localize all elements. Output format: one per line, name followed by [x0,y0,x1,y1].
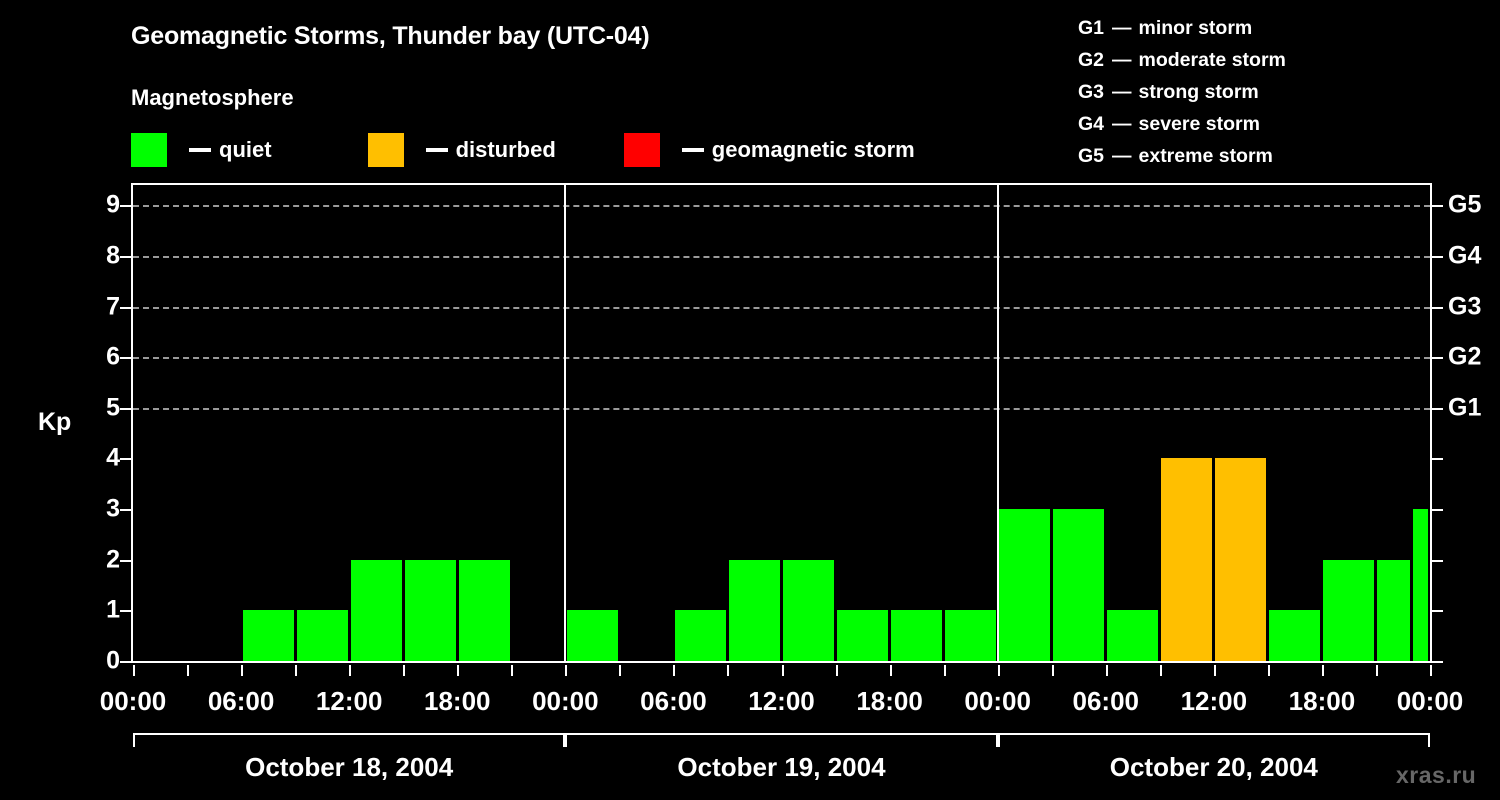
y-axis-labels: 0123456789 [60,183,120,663]
page-title: Geomagnetic Storms, Thunder bay (UTC-04) [131,22,649,51]
g-axis-label-G2: G2 [1448,345,1481,370]
x-tick-minor [187,665,189,676]
color-legend: quietdisturbedgeomagnetic storm [131,132,915,168]
legend-label: quiet [219,137,272,163]
y-tick-label-7: 7 [80,294,120,319]
y-tick-mark-right [1432,661,1443,663]
g-scale-dash-icon: — [1112,108,1132,140]
bar-18 [1107,610,1158,661]
day-separator [997,185,999,661]
y-tick-mark [120,610,131,612]
y-tick-mark-right [1432,256,1443,258]
y-tick-mark [120,256,131,258]
x-tick-major [133,665,135,676]
x-tick-minor [1052,665,1054,676]
x-tick-major [349,665,351,676]
g-scale-line-G3: G3—strong storm [1078,76,1478,108]
g-scale-text: minor storm [1139,12,1253,44]
legend-dash-icon [426,148,448,152]
legend-dash-icon [682,148,704,152]
gridline-kp-8 [133,256,1430,258]
x-tick-minor [295,665,297,676]
x-axis-ticks [131,665,1432,677]
bar-11 [729,560,780,661]
g-scale-line-G1: G1—minor storm [1078,12,1478,44]
day-bracket [998,733,1430,747]
x-tick-major [1214,665,1216,676]
g-scale-code: G3 [1078,76,1108,108]
g-scale-legend: G1—minor stormG2—moderate stormG3—strong… [1078,12,1478,172]
day-separator [564,185,566,661]
y-tick-label-0: 0 [80,649,120,674]
y-tick-label-3: 3 [80,497,120,522]
bar-21 [1269,610,1320,661]
g-axis-label-G4: G4 [1448,243,1481,268]
x-tick-major [457,665,459,676]
section-label: Magnetosphere [131,85,294,111]
bar-20 [1215,458,1266,661]
y-tick-mark [120,458,131,460]
legend-dash-icon [189,148,211,152]
g-scale-text: strong storm [1139,76,1259,108]
day-label: October 19, 2004 [565,752,997,783]
g-scale-dash-icon: — [1112,44,1132,76]
bar-22 [1323,560,1374,661]
y-tick-mark [120,509,131,511]
plot-inner [133,185,1430,661]
legend-item-disturbed: disturbed [368,133,556,167]
bar-17 [1053,509,1104,661]
g-scale-line-G5: G5—extreme storm [1078,140,1478,172]
gridline-kp-5 [133,408,1430,410]
x-tick-minor [619,665,621,676]
y-tick-mark [120,661,131,663]
y-tick-mark [120,408,131,410]
g-scale-dash-icon: — [1112,140,1132,172]
g-axis-label-G5: G5 [1448,193,1481,218]
x-tick-major [1106,665,1108,676]
y-axis-ticks-left [120,183,131,663]
y-tick-mark-right [1432,357,1443,359]
x-tick-minor [1376,665,1378,676]
y-tick-mark [120,307,131,309]
g-scale-code: G5 [1078,140,1108,172]
y-tick-mark-right [1432,458,1443,460]
bar-16 [999,509,1050,661]
plot-area [131,183,1432,663]
bar-3 [297,610,348,661]
x-tick-major [1430,665,1432,676]
legend-item-geomagnetic-storm: geomagnetic storm [624,133,915,167]
bar-4 [351,560,402,661]
g-scale-axis-labels: G1G2G3G4G5 [1448,183,1500,663]
y-tick-label-6: 6 [80,345,120,370]
legend-label: disturbed [456,137,556,163]
bar-8 [567,610,618,661]
legend-item-quiet: quiet [131,133,272,167]
x-tick-minor [727,665,729,676]
x-tick-minor [1268,665,1270,676]
day-bracket [133,733,565,747]
g-scale-line-G4: G4—severe storm [1078,108,1478,140]
x-tick-minor [836,665,838,676]
day-labels: October 18, 2004October 19, 2004October … [131,752,1432,788]
x-tick-minor [511,665,513,676]
y-tick-mark-right [1432,509,1443,511]
g-scale-code: G4 [1078,108,1108,140]
gridline-kp-9 [133,205,1430,207]
bar-12 [783,560,834,661]
g-scale-text: severe storm [1139,108,1260,140]
y-tick-mark [120,205,131,207]
y-tick-label-1: 1 [80,598,120,623]
y-tick-mark-right [1432,560,1443,562]
y-tick-mark-right [1432,205,1443,207]
gridline-kp-7 [133,307,1430,309]
watermark: xras.ru [1396,762,1476,789]
bar-19 [1161,458,1212,661]
y-tick-label-8: 8 [80,243,120,268]
bar-2 [243,610,294,661]
g-scale-dash-icon: — [1112,12,1132,44]
day-brackets [131,733,1432,747]
chart-root: Geomagnetic Storms, Thunder bay (UTC-04)… [0,0,1500,800]
day-label: October 20, 2004 [998,752,1430,783]
gridline-kp-6 [133,357,1430,359]
bar-15 [945,610,996,661]
x-tick-major [673,665,675,676]
y-tick-label-2: 2 [80,547,120,572]
g-axis-label-G3: G3 [1448,294,1481,319]
y-tick-mark [120,357,131,359]
x-tick-major [565,665,567,676]
day-bracket [565,733,997,747]
x-tick-major [782,665,784,676]
y-tick-mark-right [1432,307,1443,309]
g-scale-dash-icon: — [1112,76,1132,108]
x-axis-labels: 00:0006:0012:0018:0000:0006:0012:0018:00… [0,686,1500,722]
legend-label: geomagnetic storm [712,137,915,163]
bar-23 [1377,560,1410,661]
x-tick-minor [1160,665,1162,676]
g-scale-text: extreme storm [1139,140,1273,172]
g-scale-text: moderate storm [1139,44,1286,76]
x-tick-major [998,665,1000,676]
x-tick-label: 00:00 [1360,686,1500,717]
y-tick-label-4: 4 [80,446,120,471]
disturbed-swatch [368,133,404,167]
y-tick-mark-right [1432,408,1443,410]
y-tick-mark [120,560,131,562]
y-tick-label-9: 9 [80,193,120,218]
bar-10 [675,610,726,661]
x-tick-major [1322,665,1324,676]
y-axis-ticks-right [1432,183,1443,663]
storm-swatch [624,133,660,167]
y-tick-mark-right [1432,610,1443,612]
x-tick-minor [403,665,405,676]
g-scale-line-G2: G2—moderate storm [1078,44,1478,76]
bar-6 [459,560,510,661]
day-label: October 18, 2004 [133,752,565,783]
x-tick-major [241,665,243,676]
x-tick-minor [944,665,946,676]
bar-14 [891,610,942,661]
bar-5 [405,560,456,661]
bar-13 [837,610,888,661]
g-scale-code: G2 [1078,44,1108,76]
g-axis-label-G1: G1 [1448,395,1481,420]
y-tick-label-5: 5 [80,395,120,420]
quiet-swatch [131,133,167,167]
bar-24 [1413,509,1428,661]
g-scale-code: G1 [1078,12,1108,44]
x-tick-major [890,665,892,676]
